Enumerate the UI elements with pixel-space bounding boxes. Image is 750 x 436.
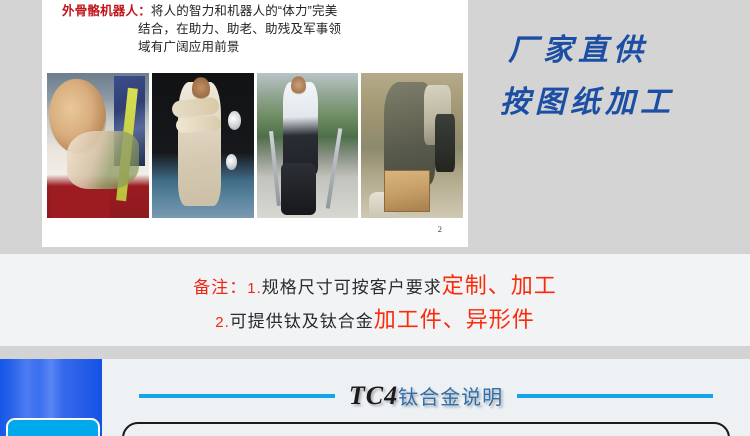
- photo-walking-assist-exoskeleton: [257, 73, 359, 218]
- section-divider: [0, 346, 750, 359]
- handwritten-slogan: 厂家直供 按图纸加工: [500, 36, 745, 118]
- header-rule-left-icon: [139, 394, 335, 398]
- product-detail-page: 外骨骼机器人：将人的智力和机器人的“体力”完美 结合，在助力、助老、助残及军事领…: [0, 0, 750, 436]
- section-header: TC4钛合金说明: [102, 359, 750, 419]
- photo1-table-shape: [51, 186, 110, 218]
- slogan-line-1: 厂家直供: [500, 36, 745, 66]
- tc4-description-section: TC4钛合金说明: [0, 359, 750, 436]
- note-2-emphasis: 加工件、异形件: [374, 307, 535, 332]
- photo-humanoid-exoskeleton: [152, 73, 254, 218]
- photo4-pack-shape: [435, 114, 455, 172]
- section-title-code: TC4: [349, 381, 398, 410]
- note-2-index: 2.: [215, 314, 230, 331]
- slide-heading-lead: 外骨骼机器人：: [62, 4, 151, 18]
- slogan-line-2: 按图纸加工: [500, 88, 745, 118]
- photo2-joint-lower-shape: [226, 154, 237, 170]
- slide-heading: 外骨骼机器人：将人的智力和机器人的“体力”完美 结合，在助力、助老、助残及军事领…: [62, 2, 454, 56]
- note-1-emphasis: 定制、加工: [442, 273, 557, 298]
- notes-label: 备注：: [193, 278, 247, 297]
- description-content-box: [122, 422, 730, 436]
- photo4-rock-shape: [369, 192, 395, 218]
- note-line-2: 2.可提供钛及钛合金加工件、异形件: [0, 302, 750, 334]
- presentation-slide-card: 外骨骼机器人：将人的智力和机器人的“体力”完美 结合，在助力、助老、助残及军事领…: [42, 0, 468, 247]
- note-1-index: 1.: [247, 280, 262, 297]
- slide-heading-line-1: 将人的智力和机器人的“体力”完美: [151, 4, 338, 18]
- blue-side-rail: [0, 359, 102, 436]
- photo3-legs-shape: [281, 163, 316, 215]
- photo2-joint-upper-shape: [228, 111, 241, 130]
- section-title: TC4钛合金说明: [349, 381, 503, 411]
- photo3-crutch-right-shape: [325, 128, 342, 209]
- photo-strip: [47, 73, 463, 218]
- note-line-1: 备注：1.规格尺寸可按客户要求定制、加工: [0, 268, 750, 300]
- notes-band: 备注：1.规格尺寸可按客户要求定制、加工 2.可提供钛及钛合金加工件、异形件: [0, 254, 750, 346]
- note-1-text: 规格尺寸可按客户要求: [262, 278, 442, 297]
- note-2-text: 可提供钛及钛合金: [230, 312, 374, 331]
- photo-child-exoskeleton: [47, 73, 149, 218]
- photo-military-exoskeleton: [361, 73, 463, 218]
- section-title-cn: 钛合金说明: [398, 387, 503, 409]
- slide-heading-line-2: 结合，在助力、助老、助残及军事领: [62, 20, 454, 38]
- section-header-inner: TC4钛合金说明: [102, 381, 750, 411]
- header-rule-right-icon: [517, 394, 713, 398]
- slide-heading-line-3: 域有广阔应用前景: [62, 38, 454, 56]
- photo3-crutch-left-shape: [269, 131, 281, 206]
- photo2-arm-lower-shape: [176, 115, 221, 132]
- slide-page-number: 2: [438, 224, 442, 234]
- top-slide-section: 外骨骼机器人：将人的智力和机器人的“体力”完美 结合，在助力、助老、助残及军事领…: [0, 0, 750, 248]
